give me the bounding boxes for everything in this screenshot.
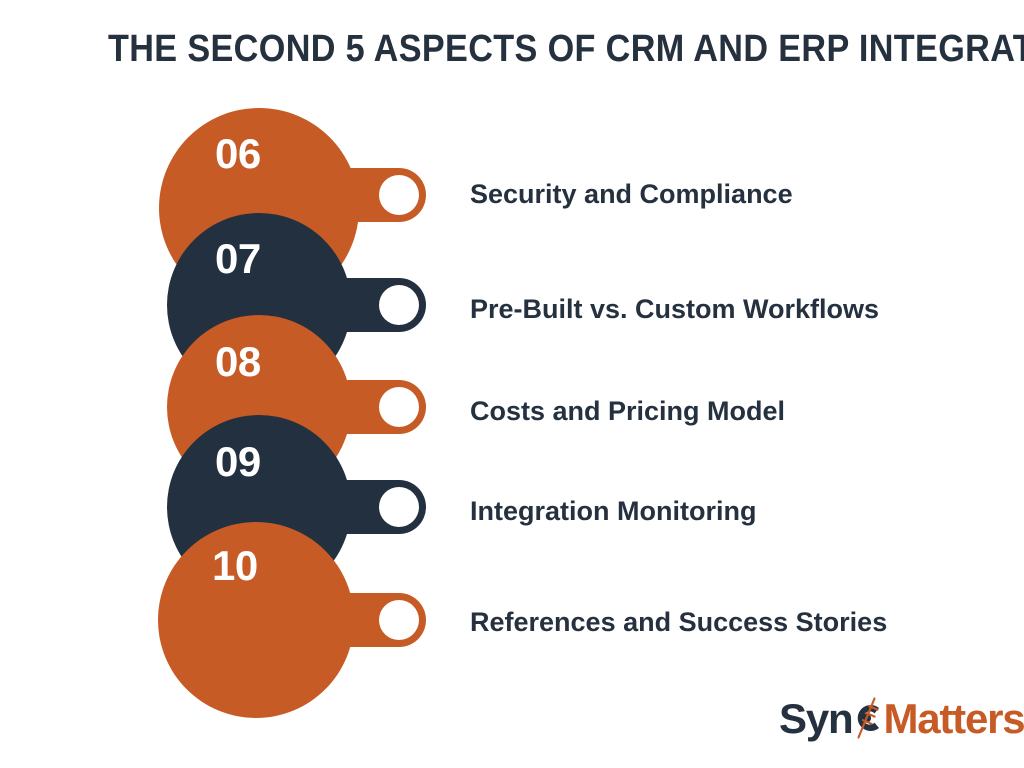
logo-text-matters: Matters <box>883 695 1024 742</box>
step-list: 06Security and Compliance07Pre-Built vs.… <box>0 0 1024 768</box>
brand-logo: Syn Matters <box>779 691 1024 739</box>
logo-c-slash-icon <box>849 697 885 739</box>
step-number: 10 <box>212 545 258 587</box>
step-label: References and Success Stories <box>470 606 887 638</box>
logo-text-sync: Syn <box>779 695 852 742</box>
infographic-canvas: THE SECOND 5 ASPECTS OF CRM AND ERP INTE… <box>0 0 1024 768</box>
step-badge-shape <box>0 0 1024 768</box>
